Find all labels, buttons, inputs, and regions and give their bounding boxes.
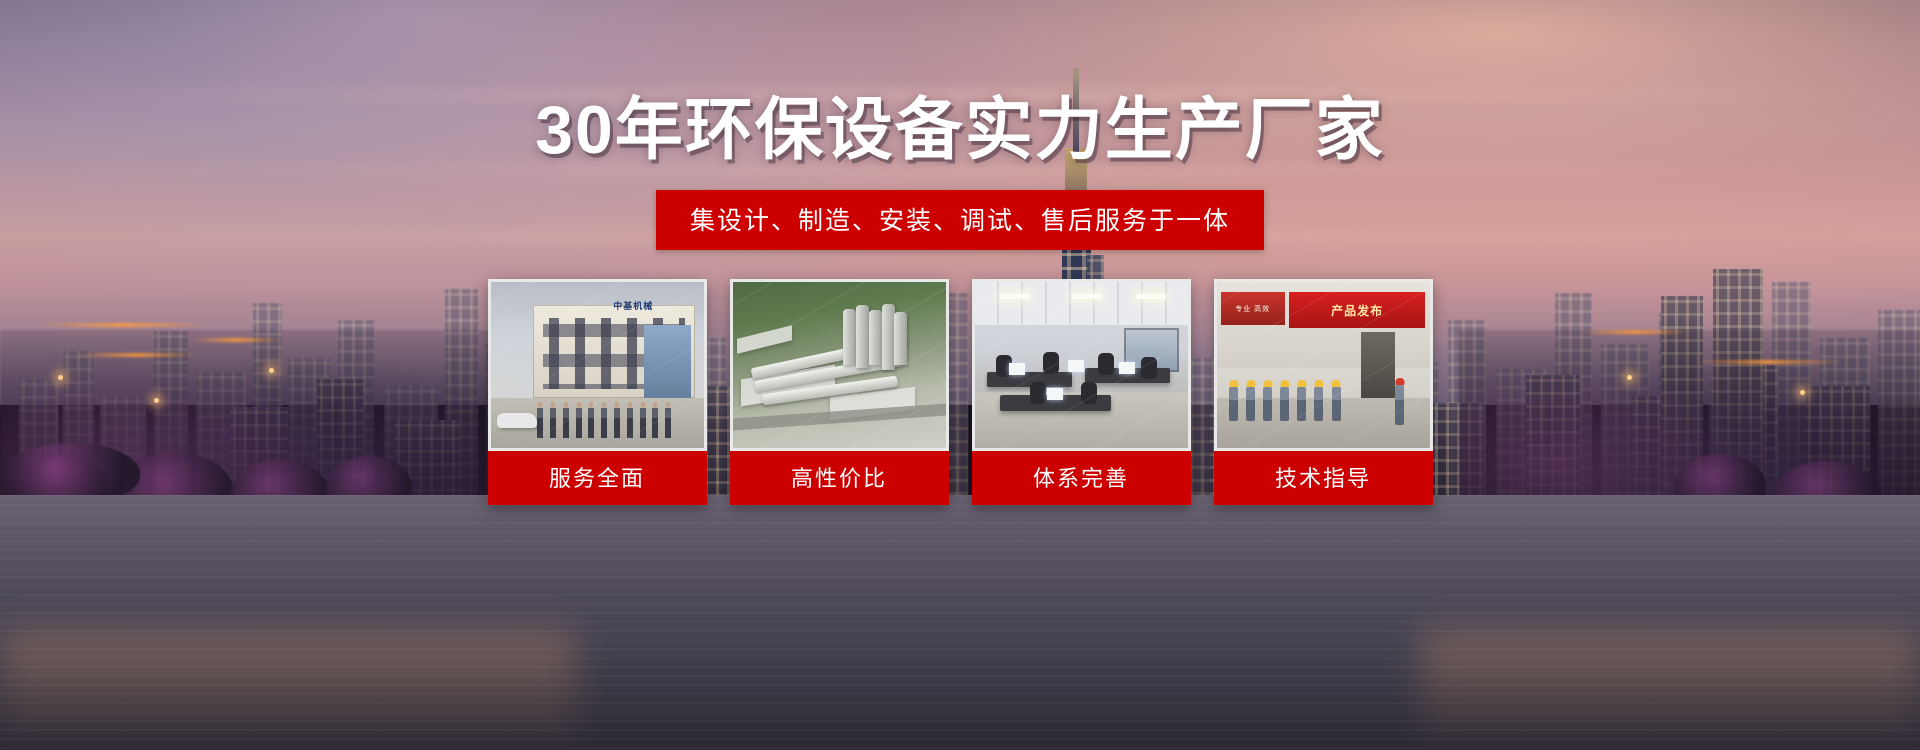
- feature-card[interactable]: 高性价比: [730, 279, 949, 505]
- feature-card[interactable]: 体系完善: [972, 279, 1191, 505]
- banner-content: 30年环保设备实力生产厂家 集设计、制造、安装、调试、售后服务于一体 中基机械: [0, 0, 1920, 750]
- card-thumbnail: [733, 282, 946, 448]
- feature-card-list: 中基机械 服务全面: [488, 279, 1433, 505]
- banner-subtitle-bar: 集设计、制造、安装、调试、售后服务于一体: [656, 190, 1264, 250]
- feature-card[interactable]: 中基机械 服务全面: [488, 279, 707, 505]
- workshop-side-banner-text: 专业 高效: [1221, 292, 1285, 325]
- card-caption: 服务全面: [488, 451, 707, 505]
- workshop-banner-text: 产品发布: [1289, 292, 1425, 329]
- card-thumbnail: 产品发布 专业 高效: [1217, 282, 1430, 448]
- card-caption: 体系完善: [972, 451, 1191, 505]
- feature-card[interactable]: 产品发布 专业 高效 技术指导: [1214, 279, 1433, 505]
- card-caption: 高性价比: [730, 451, 949, 505]
- building-sign-text: 中基机械: [584, 295, 682, 315]
- card-thumbnail: 中基机械: [491, 282, 704, 448]
- card-caption: 技术指导: [1214, 451, 1433, 505]
- card-thumbnail: [975, 282, 1188, 448]
- banner-headline: 30年环保设备实力生产厂家: [535, 96, 1385, 164]
- hero-banner: 30年环保设备实力生产厂家 集设计、制造、安装、调试、售后服务于一体 中基机械: [0, 0, 1920, 750]
